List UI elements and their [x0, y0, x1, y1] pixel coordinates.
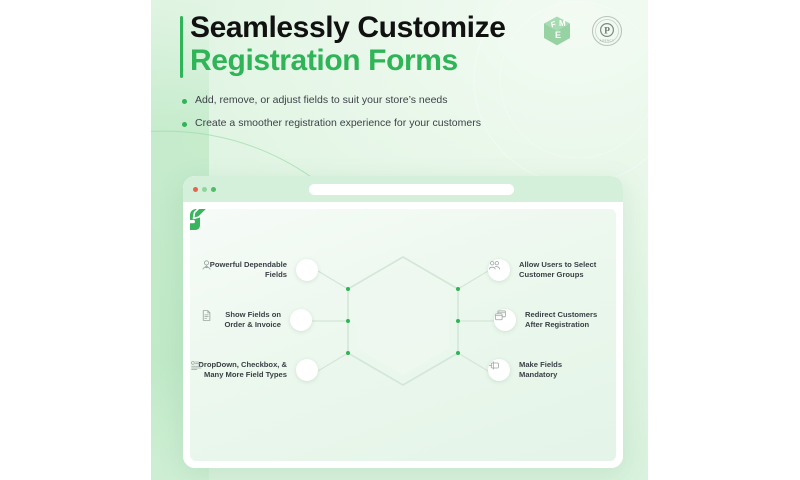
vertex-dot	[456, 319, 461, 324]
feature-node-label: Allow Users to Select Customer Groups	[519, 260, 596, 281]
svg-text:AGENCY: AGENCY	[600, 39, 615, 43]
header: Seamlessly Customize Registration Forms …	[151, 0, 648, 140]
feature-node-redirect-customers-after-registration[interactable]: Redirect Customers After Registration	[494, 309, 614, 331]
browser-titlebar	[183, 176, 623, 202]
maximize-dot-icon[interactable]	[211, 187, 216, 192]
minimize-dot-icon[interactable]	[202, 187, 207, 192]
feature-node-label: Redirect Customers After Registration	[525, 310, 597, 331]
fme-cube-logo: F M E	[538, 12, 576, 50]
browser-mockup: Powerful Dependable Fields Show Fields	[183, 176, 623, 468]
vertex-dot	[456, 351, 461, 356]
logo-group: F M E P AGENCY	[538, 12, 626, 50]
user-field-icon	[296, 259, 318, 281]
bullet-dot-icon	[182, 122, 187, 127]
svg-text:P: P	[604, 27, 610, 37]
browser-viewport: Powerful Dependable Fields Show Fields	[183, 202, 623, 468]
vertex-dot	[346, 319, 351, 324]
list-item: Create a smoother registration experienc…	[182, 117, 648, 130]
feature-node-label: Powerful Dependable Fields	[210, 260, 287, 281]
bullet-dot-icon	[182, 99, 187, 104]
svg-text:M: M	[559, 19, 566, 28]
svg-text:E: E	[555, 30, 561, 40]
close-dot-icon[interactable]	[193, 187, 198, 192]
bullet-text: Create a smoother registration experienc…	[195, 117, 481, 130]
redirect-window-icon	[494, 309, 516, 331]
mandatory-field-icon	[488, 359, 510, 381]
form-edit-icon	[190, 209, 216, 235]
feature-node-label: DropDown, Checkbox, & Many More Field Ty…	[198, 360, 287, 381]
feature-node-show-fields-order-invoice[interactable]: Show Fields on Order & Invoice	[200, 309, 312, 331]
feature-node-make-fields-mandatory[interactable]: Make Fields Mandatory	[488, 359, 608, 381]
feature-node-label: Make Fields Mandatory	[519, 360, 562, 381]
promo-banner: Seamlessly Customize Registration Forms …	[0, 0, 800, 480]
form-list-icon	[296, 359, 318, 381]
customer-group-icon	[488, 259, 510, 281]
vertex-dot	[346, 351, 351, 356]
feature-node-label: Show Fields on Order & Invoice	[224, 310, 281, 331]
vertex-dot	[456, 287, 461, 292]
list-item: Add, remove, or adjust fields to suit yo…	[182, 94, 648, 107]
partner-badge-logo: P AGENCY	[588, 12, 626, 50]
address-bar[interactable]	[309, 184, 514, 195]
page-content-area: Powerful Dependable Fields Show Fields	[190, 209, 616, 461]
feature-hex-diagram: Powerful Dependable Fields Show Fields	[190, 209, 616, 461]
traffic-light-dots	[193, 187, 216, 192]
green-canvas: Seamlessly Customize Registration Forms …	[151, 0, 648, 480]
bullet-text: Add, remove, or adjust fields to suit yo…	[195, 94, 448, 107]
invoice-document-icon	[290, 309, 312, 331]
hexagon-connectors	[190, 209, 616, 461]
feature-node-dropdown-checkbox-field-types[interactable]: DropDown, Checkbox, & Many More Field Ty…	[190, 359, 318, 381]
vertex-dot	[346, 287, 351, 292]
title-accent-bar	[180, 16, 183, 78]
feature-bullet-list: Add, remove, or adjust fields to suit yo…	[151, 94, 648, 130]
feature-node-powerful-dependable-fields[interactable]: Powerful Dependable Fields	[200, 259, 318, 281]
feature-node-allow-users-select-customer-groups[interactable]: Allow Users to Select Customer Groups	[488, 259, 614, 281]
